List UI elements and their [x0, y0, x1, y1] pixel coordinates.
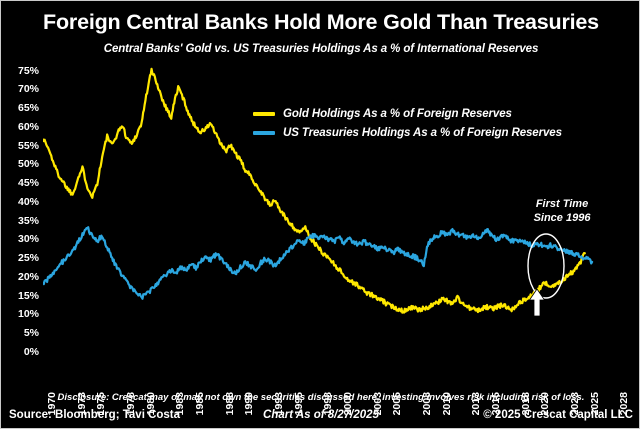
y-tick-label: 60% [18, 122, 39, 133]
y-tick-label: 30% [18, 234, 39, 245]
chart-legend: Gold Holdings As a % of Foreign Reserves… [253, 104, 583, 142]
y-tick-label: 20% [18, 272, 39, 283]
legend-label-gold: Gold Holdings As a % of Foreign Reserves [283, 108, 512, 120]
footer-bar: Source: Bloomberg; Tavi Costa Chart As o… [1, 409, 640, 429]
y-tick-label: 0% [24, 347, 39, 358]
legend-swatch-gold [253, 112, 275, 116]
y-axis-labels: 0%5%10%15%20%25%30%35%40%45%50%55%60%65%… [1, 63, 39, 352]
y-tick-label: 10% [18, 309, 39, 320]
y-tick-label: 65% [18, 103, 39, 114]
annotation-first-time: First Time Since 1996 [514, 197, 610, 225]
y-tick-label: 40% [18, 197, 39, 208]
chart-subtitle: Central Banks' Gold vs. US Treasuries Ho… [1, 43, 640, 55]
footer-copyright: © 2025 Crescat Capital LLC [483, 409, 633, 421]
y-tick-label: 50% [18, 159, 39, 170]
legend-label-treasuries: US Treasuries Holdings As a % of Foreign… [283, 127, 562, 139]
y-tick-label: 75% [18, 65, 39, 76]
x-axis-labels: 1970197319751978198019831985198819901993… [43, 354, 635, 394]
series-line-treasuries [43, 227, 592, 299]
y-tick-label: 5% [24, 328, 39, 339]
y-tick-label: 35% [18, 215, 39, 226]
y-tick-label: 70% [18, 84, 39, 95]
legend-swatch-treasuries [253, 131, 275, 135]
chart-screenshot: Foreign Central Banks Hold More Gold Tha… [0, 0, 640, 429]
legend-item-gold: Gold Holdings As a % of Foreign Reserves [253, 104, 583, 123]
legend-item-treasuries: US Treasuries Holdings As a % of Foreign… [253, 123, 583, 142]
chart-title: Foreign Central Banks Hold More Gold Tha… [1, 10, 640, 35]
annotation-line-2: Since 1996 [514, 211, 610, 225]
annotation-line-1: First Time [514, 197, 610, 211]
y-tick-label: 15% [18, 290, 39, 301]
disclosure-text: Disclosure: Crescat may or may not own t… [1, 392, 640, 403]
y-tick-label: 55% [18, 140, 39, 151]
y-tick-label: 45% [18, 178, 39, 189]
y-tick-label: 25% [18, 253, 39, 264]
